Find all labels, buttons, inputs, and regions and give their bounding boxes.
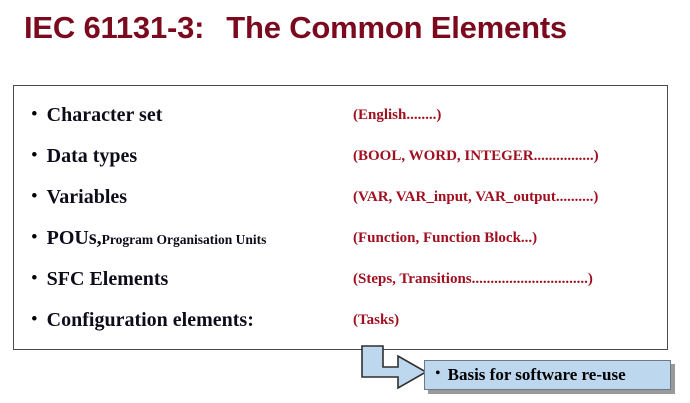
list-item: • Variables (VAR, VAR_input, VAR_output.… [14,182,667,212]
elements-list-box: • Character set (English........) • Data… [13,85,668,350]
list-item-label: SFC Elements [47,268,169,291]
list-item: • Data types (BOOL, WORD, INTEGER.......… [14,141,667,171]
callout-text: Basis for software re-use [448,365,626,385]
list-item-label: Data types [47,145,138,168]
callout-box: • Basis for software re-use [424,360,671,390]
bullet-icon: • [31,187,38,206]
list-item-label-group: • SFC Elements [31,268,168,291]
list-item-detail: (Tasks) [353,312,399,329]
bent-arrow-down-right-icon [360,345,430,391]
list-item-detail: (English........) [353,107,441,124]
list-item-label-group: • POUs, Program Organisation Units [31,227,266,250]
list-item-label-group: • Configuration elements: [31,309,254,332]
bullet-icon: • [435,366,441,382]
list-item-detail: (Function, Function Block...) [353,230,537,247]
list-item-label: POUs, [47,227,102,250]
list-item-detail: (BOOL, WORD, INTEGER................) [353,148,599,165]
title-subject: The Common Elements [226,10,567,45]
bullet-icon: • [31,269,38,288]
bullet-icon: • [31,146,38,165]
bullet-icon: • [31,105,38,124]
list-item: • Configuration elements: (Tasks) [14,305,667,335]
list-item-detail: (VAR, VAR_input, VAR_output..........) [353,189,598,206]
title-standard: IEC 61131-3: [24,10,204,45]
list-item-label: Configuration elements: [47,309,254,332]
list-item-label-group: • Character set [31,104,162,127]
list-item-sublabel: Program Organisation Units [102,232,267,248]
bullet-icon: • [31,228,38,247]
list-item-label-group: • Variables [31,186,127,209]
list-item-label-group: • Data types [31,145,137,168]
list-item: • SFC Elements (Steps, Transitions......… [14,264,667,294]
page-title: IEC 61131-3:The Common Elements [24,8,674,48]
list-item: • Character set (English........) [14,100,667,130]
list-item-label: Character set [47,104,163,127]
list-item: • POUs, Program Organisation Units (Func… [14,223,667,253]
list-item-detail: (Steps, Transitions.....................… [353,271,593,288]
list-item-label: Variables [47,186,127,209]
bullet-icon: • [31,310,38,329]
